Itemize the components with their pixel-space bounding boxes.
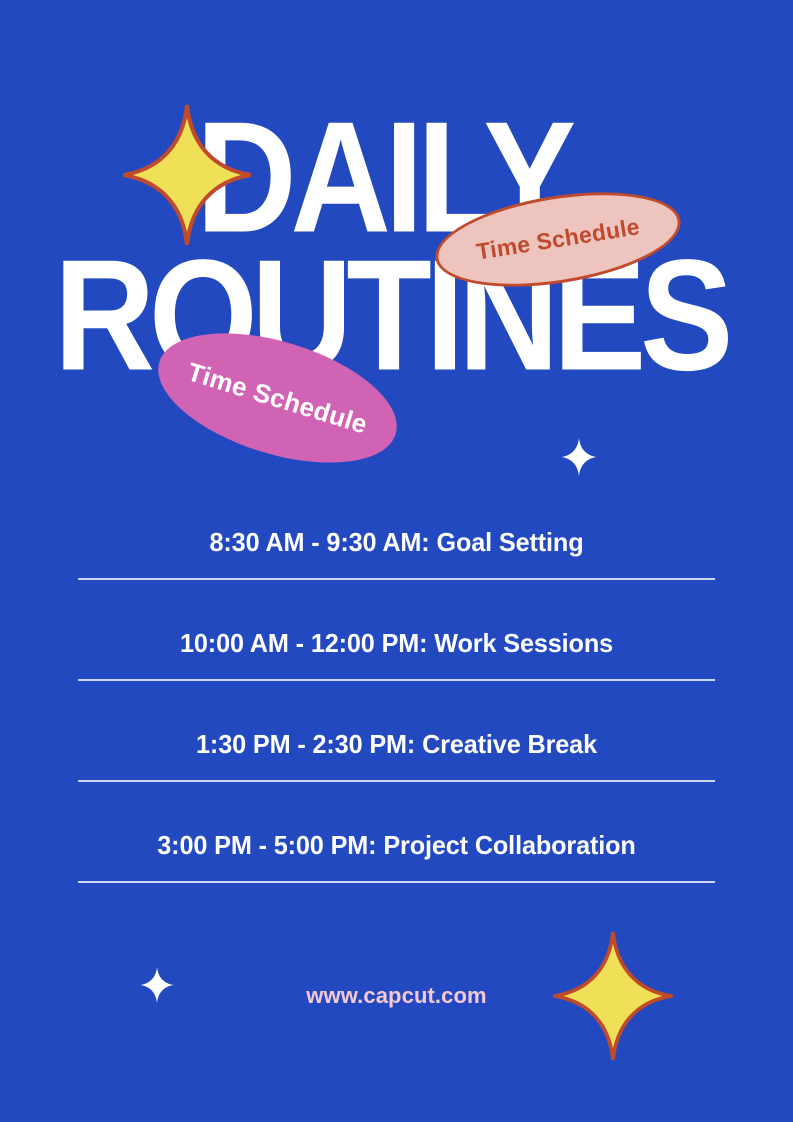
schedule-item: 10:00 AM - 12:00 PM: Work Sessions <box>78 628 715 729</box>
divider <box>78 780 715 782</box>
poster-canvas: DAILY ROUTINES Time Schedule Time Schedu… <box>0 0 793 1122</box>
divider <box>78 881 715 883</box>
footer-url[interactable]: www.capcut.com <box>0 983 793 1009</box>
schedule-item: 3:00 PM - 5:00 PM: Project Collaboration <box>78 830 715 931</box>
divider <box>78 578 715 580</box>
divider <box>78 679 715 681</box>
schedule-item: 1:30 PM - 2:30 PM: Creative Break <box>78 729 715 830</box>
badge-label: Time Schedule <box>184 356 371 440</box>
poster-title: DAILY ROUTINES <box>0 96 793 396</box>
schedule-item-label: 8:30 AM - 9:30 AM: Goal Setting <box>88 527 706 558</box>
schedule-item-label: 10:00 AM - 12:00 PM: Work Sessions <box>88 628 706 659</box>
title-line-routines: ROUTINES <box>54 248 727 384</box>
schedule-item: 8:30 AM - 9:30 AM: Goal Setting <box>78 527 715 628</box>
badge-label: Time Schedule <box>474 213 641 265</box>
schedule-item-label: 3:00 PM - 5:00 PM: Project Collaboration <box>88 830 706 861</box>
schedule-list: 8:30 AM - 9:30 AM: Goal Setting 10:00 AM… <box>78 527 715 931</box>
sparkle-star-icon <box>561 438 597 476</box>
schedule-item-label: 1:30 PM - 2:30 PM: Creative Break <box>88 729 706 760</box>
